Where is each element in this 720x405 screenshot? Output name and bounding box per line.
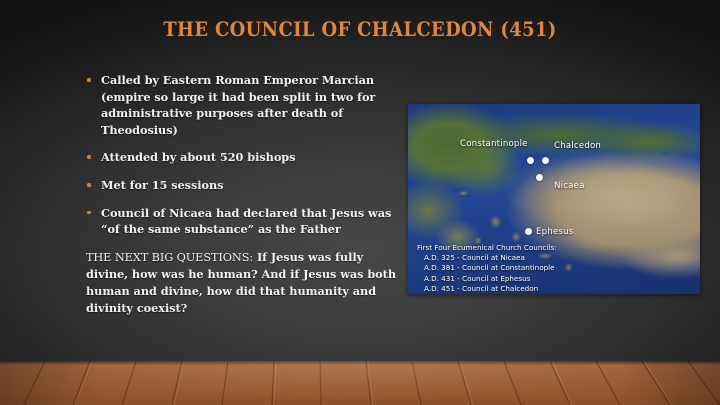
list-item: Called by Eastern Roman Emperor Marcian …	[86, 72, 396, 138]
page-title: The Council of Chalcedon (451)	[29, 18, 691, 41]
map-label-nicaea: Nicaea	[554, 181, 585, 191]
map-label-ephesus: Ephesus	[536, 227, 573, 237]
list-item-text: Council of Nicaea had declared that Jesu…	[101, 206, 391, 237]
bullet-dot-icon	[87, 155, 91, 159]
map-label-constantinople: Constantinople	[460, 139, 528, 149]
presentation-slide: The Council of Chalcedon (451) Called by…	[0, 0, 720, 405]
closing-lead: THE NEXT BIG QUESTIONS:	[86, 251, 253, 264]
slide-body: Called by Eastern Roman Emperor Marcian …	[86, 72, 396, 316]
map-city-dot-constantinople	[527, 157, 534, 164]
list-item: Attended by about 520 bishops	[86, 149, 396, 166]
list-item-text: Attended by about 520 bishops	[101, 150, 295, 164]
map-caption: First Four Ecumenical Church Councils: A…	[417, 243, 557, 294]
map-council-item: A.D. 325 - Council at Nicaea	[424, 253, 557, 263]
floor-vignette	[0, 361, 720, 405]
map-council-item: A.D. 431 - Council at Ephesus	[424, 274, 557, 284]
map-council-item: A.D. 451 - Council at Chalcedon	[424, 284, 557, 294]
council-map-image: Constantinople Chalcedon Nicaea Ephesus …	[408, 104, 700, 294]
bullet-dot-icon	[87, 211, 91, 215]
map-city-dot-chalcedon	[542, 157, 549, 164]
map-council-item: A.D. 381 - Council at Constantinople	[424, 263, 557, 273]
list-item-text: Called by Eastern Roman Emperor Marcian …	[101, 73, 375, 137]
list-item: Council of Nicaea had declared that Jesu…	[86, 205, 396, 238]
closing-paragraph: THE NEXT BIG QUESTIONS: If Jesus was ful…	[86, 249, 396, 316]
map-city-dot-nicaea	[536, 174, 543, 181]
wooden-floor	[0, 361, 720, 405]
list-item: Met for 15 sessions	[86, 177, 396, 194]
map-city-dot-ephesus	[525, 228, 532, 235]
map-label-chalcedon: Chalcedon	[554, 141, 601, 151]
bullet-dot-icon	[87, 183, 91, 187]
map-council-list: A.D. 325 - Council at Nicaea A.D. 381 - …	[417, 253, 557, 294]
bullet-dot-icon	[87, 78, 91, 82]
list-item-text: Met for 15 sessions	[101, 178, 224, 192]
map-caption-title: First Four Ecumenical Church Councils:	[417, 243, 557, 253]
